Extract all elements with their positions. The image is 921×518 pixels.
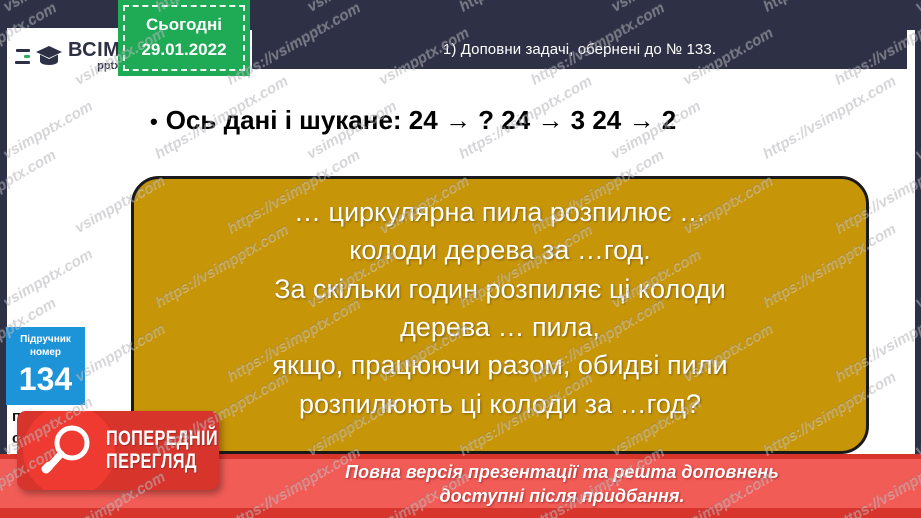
header-bar: 1) Доповни задачі, обернені до № 133. bbox=[252, 29, 907, 69]
textbook-badge-caption: номер bbox=[30, 347, 61, 360]
logo-suffix-text: pptx bbox=[68, 61, 120, 72]
notice-bottom-stripe bbox=[0, 508, 921, 518]
graduation-cap-icon bbox=[34, 41, 64, 71]
date-badge-value: 29.01.2022 bbox=[141, 38, 226, 63]
preview-banner: ПОПЕРЕДНІЙ ПЕРЕГЛЯД bbox=[17, 411, 219, 490]
left-edge-strip bbox=[0, 0, 7, 518]
problem-line: За скільки годин розпиляє ці колоди bbox=[274, 270, 726, 308]
date-badge: Сьогодні 29.01.2022 bbox=[118, 0, 250, 76]
problem-line: якщо, працюючи разом, обидві пили bbox=[272, 346, 727, 384]
logo-brand-text: ВСІМ bbox=[68, 40, 120, 60]
preview-banner-line: ПОПЕРЕДНІЙ bbox=[106, 428, 218, 450]
bullet-line-text: Ось дані і шукане: 24 → ? 24 → 3 24 → 2 bbox=[166, 105, 676, 136]
slide-canvas: ВСІМ pptx Сьогодні 29.01.2022 1) Доповни… bbox=[0, 0, 921, 518]
purchase-notice-text: Повна версія презентації та решта доповн… bbox=[232, 460, 892, 508]
magnifier-icon bbox=[36, 420, 98, 482]
preview-banner-labels: ПОПЕРЕДНІЙ ПЕРЕГЛЯД bbox=[106, 428, 219, 472]
bullet-dot-icon: • bbox=[150, 111, 158, 133]
textbook-badge-number: 134 bbox=[19, 363, 72, 395]
watermark-text: vsimpptx.com bbox=[0, 246, 96, 311]
problem-line: … циркулярна пила розпилює … bbox=[294, 193, 706, 231]
watermark-text: vsimpptx.com bbox=[0, 98, 96, 163]
problem-line: колоди дерева за …год. bbox=[349, 231, 651, 269]
purchase-notice-line: доступні після придбання. bbox=[232, 484, 892, 508]
problem-statement-box: … циркулярна пила розпилює … колоди дере… bbox=[131, 176, 869, 454]
problem-line: розпилюють ці колоди за …год? bbox=[299, 385, 701, 423]
watermark-text: https://vsimpptx.com bbox=[0, 147, 59, 237]
right-edge-strip bbox=[915, 0, 921, 518]
page-title: 1) Доповни задачі, обернені до № 133. bbox=[443, 41, 716, 58]
purchase-notice-line: Повна версія презентації та решта доповн… bbox=[232, 460, 892, 484]
textbook-number-badge: Підручник номер 134 bbox=[6, 327, 85, 405]
date-badge-label: Сьогодні bbox=[146, 13, 222, 38]
bullet-line: • Ось дані і шукане: 24 → ? 24 → 3 24 → … bbox=[150, 105, 850, 136]
preview-banner-line: ПЕРЕГЛЯД bbox=[106, 451, 218, 473]
speed-lines-icon bbox=[15, 49, 30, 64]
problem-line: дерева … пила, bbox=[400, 308, 600, 346]
textbook-badge-caption: Підручник bbox=[20, 334, 71, 347]
